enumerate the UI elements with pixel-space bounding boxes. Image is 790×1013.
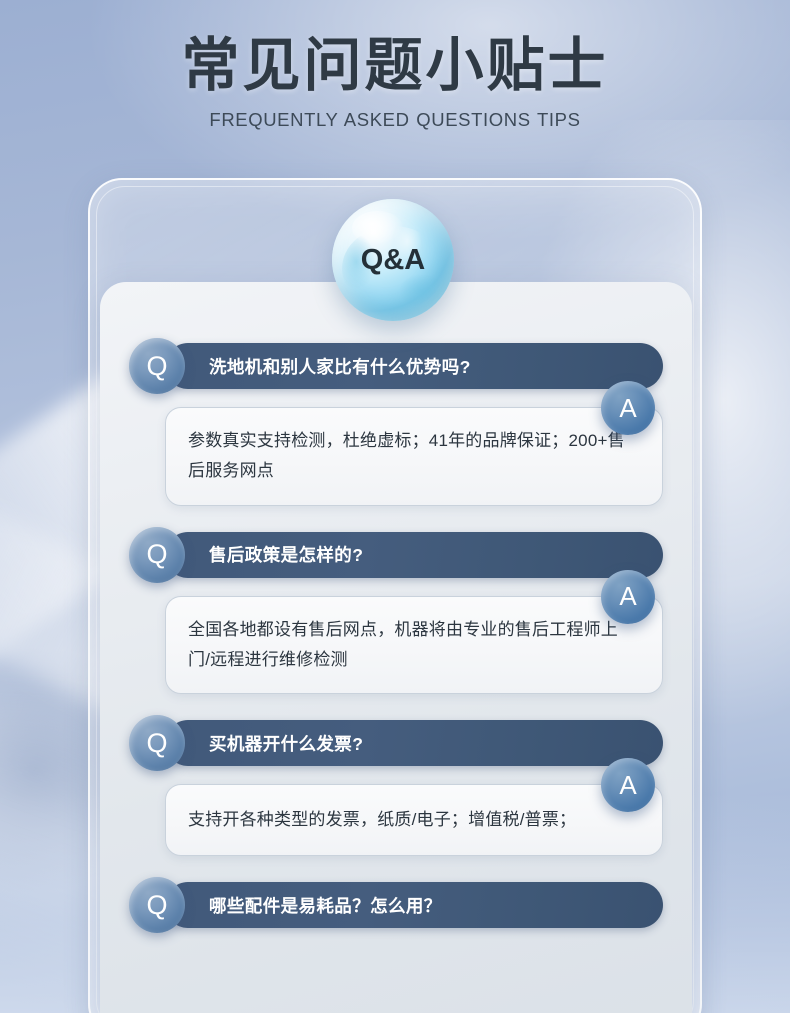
question-text: 洗地机和别人家比有什么优势吗? [209,354,471,379]
answer-marker-icon: A [601,381,655,435]
page-subtitle: FREQUENTLY ASKED QUESTIONS TIPS [0,109,790,131]
question-marker-icon: Q [129,877,185,933]
faq-list: Q 洗地机和别人家比有什么优势吗? 参数真实支持检测，杜绝虚标；41年的品牌保证… [100,282,692,1013]
answer-row: 全国各地都设有售后网点，机器将由专业的售后工程师上门/远程进行维修检测 A [129,596,663,695]
answer-text: 全国各地都设有售后网点，机器将由专业的售后工程师上门/远程进行维修检测 [188,615,636,676]
qa-bubble-label: Q&A [361,244,425,277]
question-text: 哪些配件是易耗品？怎么用？ [209,893,442,918]
faq-item[interactable]: Q 哪些配件是易耗品？怎么用？ [129,882,663,928]
answer-card: 参数真实支持检测，杜绝虚标；41年的品牌保证；200+售后服务网点 [165,407,663,506]
page-title: 常见问题小贴士 [0,34,790,99]
question-marker-icon: Q [129,715,185,771]
faq-item[interactable]: Q 买机器开什么发票? 支持开各种类型的发票，纸质/电子；增值税/普票； A [129,720,663,856]
question-bar[interactable]: Q 买机器开什么发票? [165,720,663,766]
question-bar[interactable]: Q 售后政策是怎样的? [165,532,663,578]
question-bar[interactable]: Q 哪些配件是易耗品？怎么用？ [165,882,663,928]
question-marker-icon: Q [129,338,185,394]
question-text: 买机器开什么发票? [209,731,363,756]
answer-text: 参数真实支持检测，杜绝虚标；41年的品牌保证；200+售后服务网点 [188,426,636,487]
qa-bubble-icon: Q&A [332,199,454,321]
question-text: 售后政策是怎样的? [209,542,363,567]
faq-item[interactable]: Q 售后政策是怎样的? 全国各地都设有售后网点，机器将由专业的售后工程师上门/远… [129,532,663,695]
question-marker-icon: Q [129,527,185,583]
answer-row: 参数真实支持检测，杜绝虚标；41年的品牌保证；200+售后服务网点 A [129,407,663,506]
answer-card: 全国各地都设有售后网点，机器将由专业的售后工程师上门/远程进行维修检测 [165,596,663,695]
answer-text: 支持开各种类型的发票，纸质/电子；增值税/普票； [188,805,576,835]
answer-row: 支持开各种类型的发票，纸质/电子；增值税/普票； A [129,784,663,856]
answer-marker-icon: A [601,758,655,812]
question-bar[interactable]: Q 洗地机和别人家比有什么优势吗? [165,343,663,389]
answer-card: 支持开各种类型的发票，纸质/电子；增值税/普票； [165,784,663,856]
faq-page: 常见问题小贴士 FREQUENTLY ASKED QUESTIONS TIPS … [0,0,790,1013]
answer-marker-icon: A [601,570,655,624]
page-header: 常见问题小贴士 FREQUENTLY ASKED QUESTIONS TIPS [0,0,790,131]
faq-item[interactable]: Q 洗地机和别人家比有什么优势吗? 参数真实支持检测，杜绝虚标；41年的品牌保证… [129,343,663,506]
